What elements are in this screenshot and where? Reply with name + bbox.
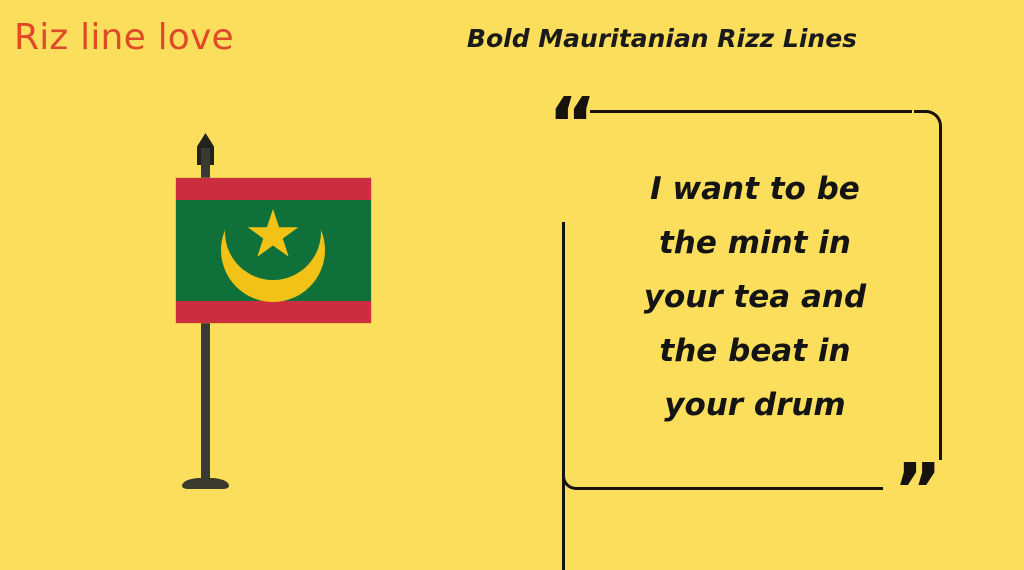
quote-card-corner-top-right bbox=[914, 110, 942, 138]
flag-emblem bbox=[176, 178, 371, 323]
quote-line: your tea and bbox=[600, 270, 910, 324]
quote-card-border-right bbox=[939, 130, 942, 460]
quote-line: the beat in bbox=[600, 324, 910, 378]
quote-line: your drum bbox=[600, 378, 910, 432]
quote-card-border-left bbox=[562, 222, 565, 570]
quote-line: I want to be bbox=[600, 162, 910, 216]
quote-open-mark-icon: “ bbox=[548, 88, 593, 162]
page-title: Bold Mauritanian Rizz Lines bbox=[412, 24, 912, 53]
quote-close-mark-icon: ” bbox=[893, 454, 938, 528]
brand-logo: Riz line love bbox=[14, 17, 234, 58]
mauritania-flag-cloth bbox=[176, 178, 371, 323]
mauritania-flag-illustration bbox=[160, 128, 390, 498]
crescent-and-star-icon bbox=[176, 178, 371, 323]
quote-text: I want to be the mint in your tea and th… bbox=[600, 162, 910, 432]
quote-card-border-top bbox=[590, 110, 912, 113]
flag-pole-base bbox=[182, 478, 229, 489]
quote-line: the mint in bbox=[600, 216, 910, 270]
quote-card-border-bottom bbox=[578, 487, 883, 490]
quote-card-corner-bottom-left bbox=[562, 466, 586, 490]
quote-card: “ I want to be the mint in your tea and … bbox=[556, 100, 944, 492]
